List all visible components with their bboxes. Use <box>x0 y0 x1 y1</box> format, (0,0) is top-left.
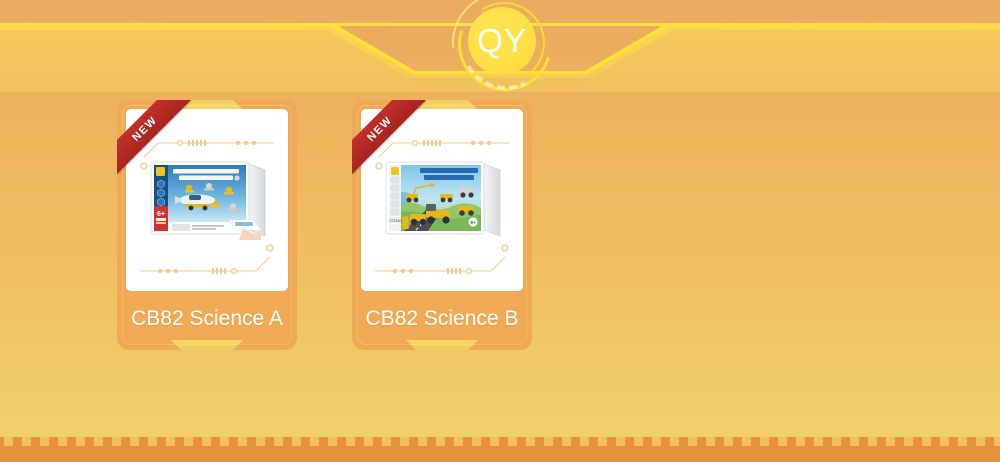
horizontal-scrollbar-track[interactable] <box>0 437 1000 462</box>
svg-text:STEAM: STEAM <box>390 219 401 223</box>
product-grid: 6+ <box>0 100 1000 350</box>
product-thumbnail[interactable]: STEAM <box>361 109 523 291</box>
svg-text:6+: 6+ <box>157 211 165 218</box>
product-box-image: STEAM <box>380 158 504 242</box>
product-box-image: 6+ <box>145 158 269 242</box>
product-thumbnail[interactable]: 6+ <box>126 109 288 291</box>
product-card-cb82-science-a[interactable]: 6+ <box>117 100 297 350</box>
product-title: CB82 Science B <box>352 296 532 342</box>
svg-text:6+: 6+ <box>470 220 476 225</box>
header-banner: QY <box>0 0 1000 92</box>
app-root: QY <box>0 0 1000 462</box>
product-card-cb82-science-b[interactable]: STEAM <box>352 100 532 350</box>
product-title: CB82 Science A <box>117 296 297 342</box>
logo-text: QY <box>468 7 536 75</box>
